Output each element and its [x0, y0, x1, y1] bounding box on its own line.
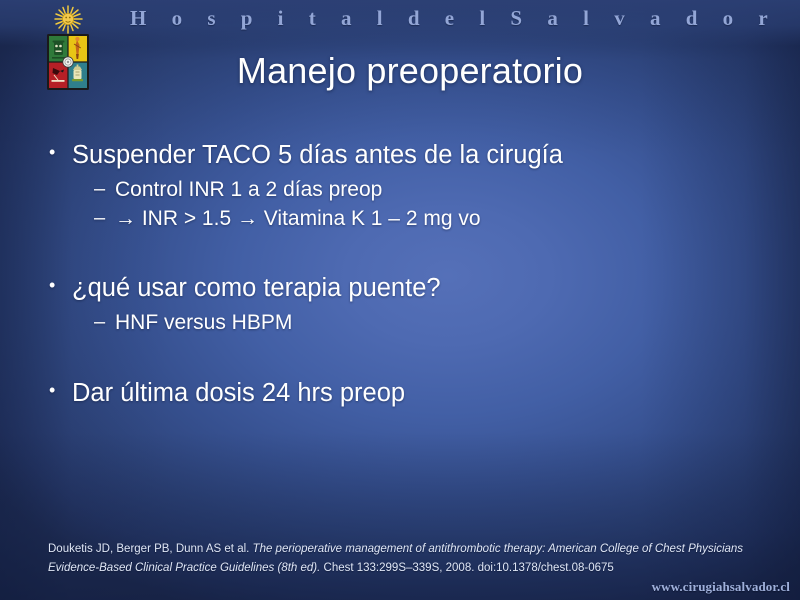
- citation-reference: Douketis JD, Berger PB, Dunn AS et al. T…: [48, 540, 748, 578]
- bullet-text: Dar última dosis 24 hrs preop: [72, 378, 405, 409]
- hospital-name-text: H o s p i t a l d e l S a l v a d o r: [130, 6, 690, 31]
- bullet-group-1: • Suspender TACO 5 días antes de la ciru…: [40, 140, 760, 233]
- citation-source: Chest 133:299S–339S, 2008. doi:10.1378/c…: [320, 562, 613, 574]
- bullet-item: • Suspender TACO 5 días antes de la ciru…: [40, 140, 760, 171]
- slide-body-content: • Suspender TACO 5 días antes de la ciru…: [40, 140, 760, 414]
- bullet-text: ¿qué usar como terapia puente?: [72, 273, 441, 304]
- sub-bullet-item: – → INR > 1.5 → Vitamina K 1 – 2 mg vo: [40, 205, 760, 232]
- sub-bullet-item: – HNF versus HBPM: [40, 309, 760, 336]
- sub-bullet-text: HNF versus HBPM: [115, 309, 292, 336]
- bullet-marker-icon: •: [40, 378, 72, 404]
- bullet-item: • ¿qué usar como terapia puente?: [40, 273, 760, 304]
- bullet-text: Suspender TACO 5 días antes de la cirugí…: [72, 140, 563, 171]
- slide-header: H o s p i t a l d e l S a l v a d o r: [0, 0, 800, 46]
- bullet-group-2: • ¿qué usar como terapia puente? – HNF v…: [40, 273, 760, 336]
- dash-marker-icon: –: [40, 176, 115, 202]
- content-spacer: [40, 235, 760, 273]
- sun-star-icon: [55, 6, 82, 33]
- website-watermark: www.cirugiahsalvador.cl: [652, 579, 790, 595]
- page-title: Manejo preoperatorio: [60, 50, 760, 92]
- sub-bullet-item: – Control INR 1 a 2 días preop: [40, 176, 760, 203]
- bullet-marker-icon: •: [40, 140, 72, 166]
- dash-marker-icon: –: [40, 309, 115, 335]
- citation-authors: Douketis JD, Berger PB, Dunn AS et al.: [48, 543, 253, 555]
- bullet-marker-icon: •: [40, 273, 72, 299]
- bullet-group-3: • Dar última dosis 24 hrs preop: [40, 378, 760, 409]
- dash-marker-icon: –: [40, 205, 115, 231]
- sub-bullet-text: → INR > 1.5 → Vitamina K 1 – 2 mg vo: [115, 205, 481, 232]
- content-spacer: [40, 338, 760, 378]
- sub-bullet-text: Control INR 1 a 2 días preop: [115, 176, 382, 203]
- bullet-item: • Dar última dosis 24 hrs preop: [40, 378, 760, 409]
- presentation-slide: H o s p i t a l d e l S a l v a d o r: [0, 0, 800, 600]
